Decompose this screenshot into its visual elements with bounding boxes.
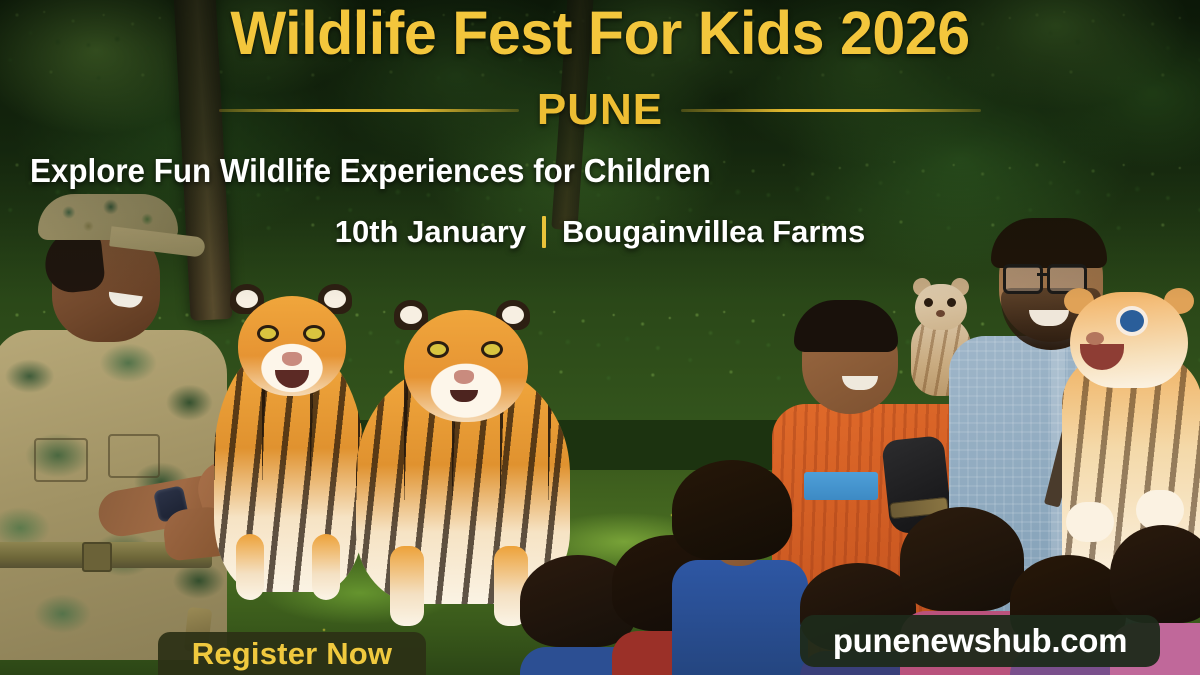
page-title: Wildlife Fest For Kids 2026 [18, 0, 1182, 65]
orange-man-hair [794, 300, 898, 352]
child-figure [672, 460, 800, 675]
website-badge[interactable]: punenewshub.com [800, 615, 1160, 667]
plush-tiger-paw-left [1066, 502, 1114, 542]
plush-tiger-paw-right [1136, 490, 1184, 530]
event-poster: Wildlife Fest For Kids 2026 PUNE Explore… [0, 0, 1200, 675]
plush-tiger-nose [1086, 332, 1104, 345]
tiger-left-leg-left [236, 534, 264, 600]
ranger-belt-buckle [82, 542, 112, 572]
tiger-left-leg-right [312, 534, 340, 600]
decorative-rule-left [219, 109, 519, 112]
ranger-pocket-right [108, 434, 160, 478]
decorative-rule-right [681, 109, 981, 112]
tiger-right-nose [454, 370, 474, 384]
tiger-right-head [404, 310, 528, 422]
website-url: punenewshub.com [833, 622, 1127, 660]
event-meta: 10th January Bougainvillea Farms [0, 214, 1200, 250]
register-now-button[interactable]: Register Now [158, 632, 426, 675]
tiger-left-nose [282, 352, 302, 366]
event-venue: Bougainvillea Farms [562, 214, 865, 250]
tiger-right-eye-left [430, 344, 446, 355]
tiger-left-eye-left [260, 328, 276, 339]
event-date: 10th January [335, 214, 526, 250]
blue-name-badge [804, 472, 878, 500]
tiger-right-eye-right [484, 344, 500, 355]
register-now-label: Register Now [192, 636, 393, 672]
city-row: PUNE [0, 84, 1200, 136]
small-cat-nose [936, 310, 945, 317]
poster-text-block: Wildlife Fest For Kids 2026 [0, 0, 1200, 65]
city-label: PUNE [537, 85, 663, 135]
poster-subtitle: Explore Fun Wildlife Experiences for Chi… [30, 152, 1170, 190]
tiger-right-face-stripes [404, 310, 528, 422]
tiger-left-eye-right [306, 328, 322, 339]
ranger-pocket-left [34, 438, 88, 482]
meta-separator [542, 216, 546, 248]
plush-tiger-eye [1120, 310, 1144, 332]
tiger-right-leg-left [390, 546, 424, 626]
